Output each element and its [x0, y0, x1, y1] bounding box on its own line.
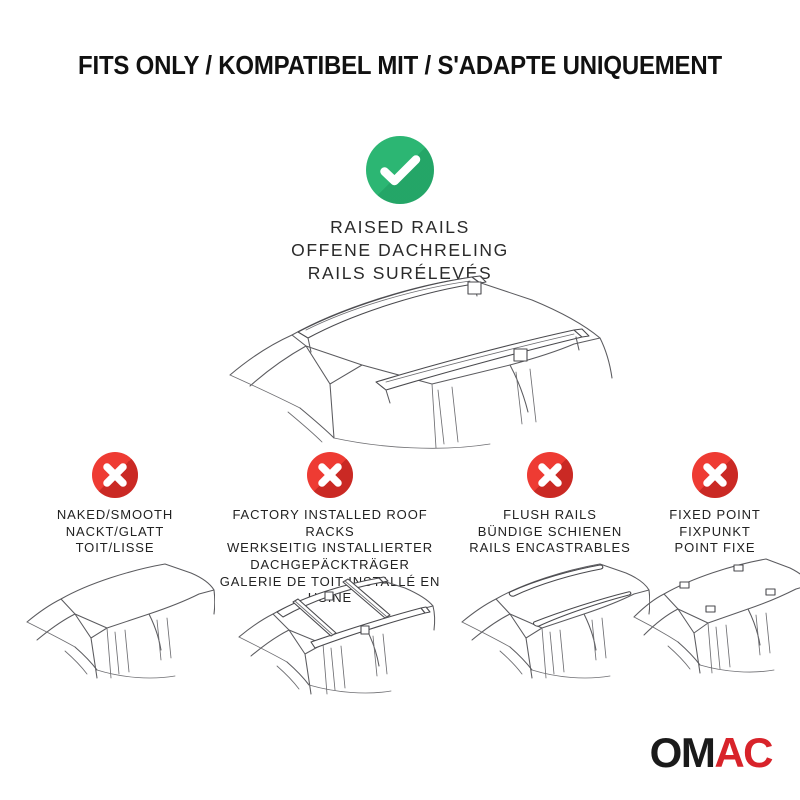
car-roof-factory-rack-illustration [215, 570, 445, 700]
incompatible-item-naked-smooth: NAKED/SMOOTH NACKT/GLATT TOIT/LISSE [15, 452, 215, 557]
incompatible-label: NAKED/SMOOTH NACKT/GLATT TOIT/LISSE [15, 507, 215, 557]
incompatible-item-flush-rails: FLUSH RAILS BÜNDIGE SCHIENEN RAILS ENCAS… [455, 452, 645, 557]
compatible-section: RAISED RAILS OFFENE DACHRELING RAILS SUR… [0, 136, 800, 285]
car-roof-fixed-point-illustration [620, 548, 800, 678]
check-mark-glyph [366, 136, 434, 204]
x-mark-glyph [527, 452, 573, 498]
x-mark-glyph [307, 452, 353, 498]
car-roof-raised-rails-illustration [180, 272, 620, 457]
x-circle-icon [307, 452, 353, 498]
x-circle-icon [527, 452, 573, 498]
x-mark-glyph [692, 452, 738, 498]
x-circle-icon [692, 452, 738, 498]
page-title: FITS ONLY / KOMPATIBEL MIT / S'ADAPTE UN… [24, 52, 776, 81]
x-mark-glyph [92, 452, 138, 498]
incompatible-item-fixed-point: FIXED POINT FIXPUNKT POINT FIXE [640, 452, 790, 557]
incompatible-row: NAKED/SMOOTH NACKT/GLATT TOIT/LISSE [0, 452, 800, 692]
omac-logo: OMAC [650, 732, 772, 774]
incompatible-label: FLUSH RAILS BÜNDIGE SCHIENEN RAILS ENCAS… [455, 507, 645, 557]
x-circle-icon [92, 452, 138, 498]
logo-text-dark: OM [650, 729, 715, 776]
check-circle-icon [366, 136, 434, 204]
incompatible-item-factory-rack: FACTORY INSTALLED ROOF RACKS WERKSEITIG … [215, 452, 445, 607]
logo-text-red: AC [714, 729, 772, 776]
car-roof-naked-smooth-illustration [15, 556, 215, 686]
page-header: FITS ONLY / KOMPATIBEL MIT / S'ADAPTE UN… [0, 52, 800, 81]
